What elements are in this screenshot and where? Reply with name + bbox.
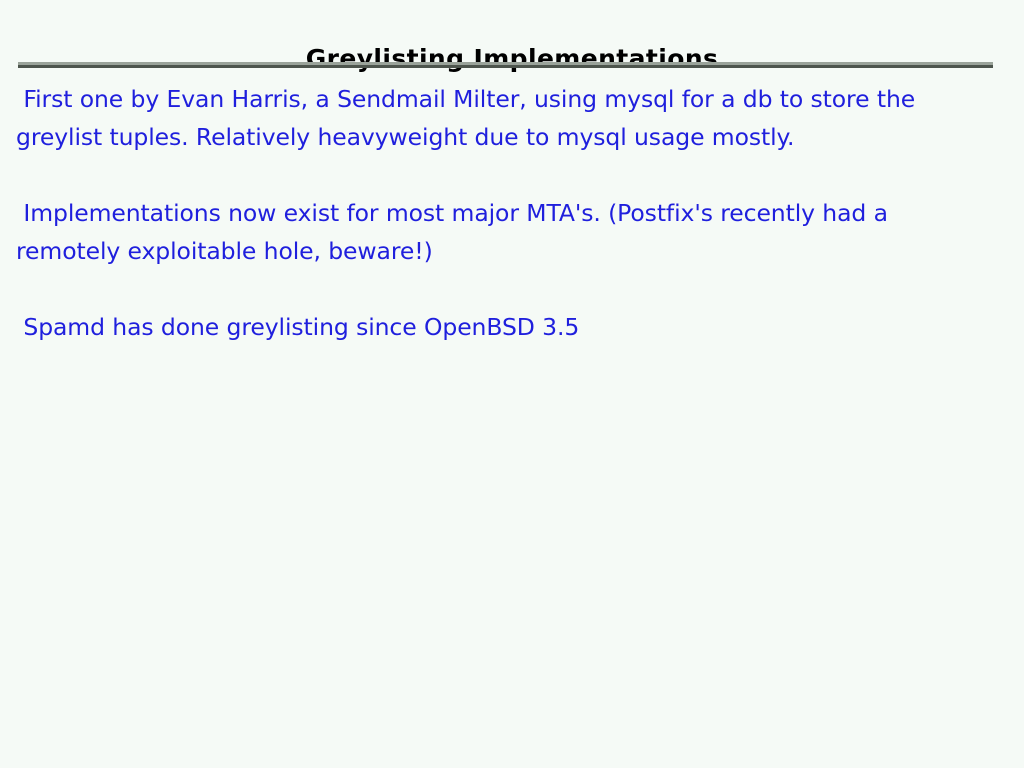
rule-shadow-band [18,65,993,68]
body-paragraph-greylist-origin: First one by Evan Harris, a Sendmail Mil… [16,80,976,156]
slide-title: Greylisting Implementations [0,44,1024,74]
body-paragraph-spamd-openbsd: Spamd has done greylisting since OpenBSD… [16,308,991,346]
presentation-slide: Greylisting Implementations First one by… [0,0,1024,768]
slide-body: First one by Evan Harris, a Sendmail Mil… [16,80,1001,346]
body-paragraph-mta-support: Implementations now exist for most major… [16,194,991,270]
title-separator-rule [18,62,993,68]
